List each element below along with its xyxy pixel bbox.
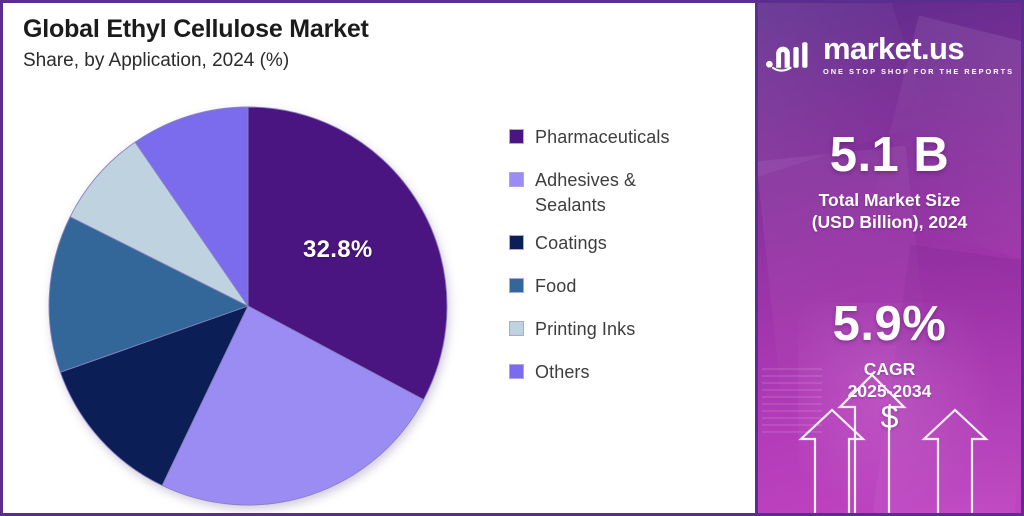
- stat-caption: Total Market Size (USD Billion), 2024: [758, 190, 1021, 233]
- legend-swatch-icon: [509, 129, 524, 144]
- pie-slice-group: [49, 107, 447, 505]
- legend-item-adhesives-sealants[interactable]: Adhesives & Sealants: [509, 168, 739, 218]
- brand-stats-panel: market.us ONE STOP SHOP FOR THE REPORTS …: [758, 3, 1021, 513]
- legend-item-label: Food: [535, 274, 576, 299]
- legend-swatch-icon: [509, 364, 524, 379]
- market-us-logo-icon: [765, 35, 813, 75]
- title-block: Global Ethyl Cellulose Market Share, by …: [23, 15, 583, 72]
- legend-item-label: Printing Inks: [535, 317, 635, 342]
- page-title: Global Ethyl Cellulose Market: [23, 15, 583, 44]
- legend-item-food[interactable]: Food: [509, 274, 739, 299]
- legend-item-printing-inks[interactable]: Printing Inks: [509, 317, 739, 342]
- legend-swatch-icon: [509, 172, 524, 187]
- legend-item-label: Coatings: [535, 231, 607, 256]
- legend-item-others[interactable]: Others: [509, 360, 739, 385]
- pie-slice-label-pharmaceuticals: 32.8%: [303, 236, 373, 264]
- chart-panel: Global Ethyl Cellulose Market Share, by …: [3, 3, 758, 513]
- brand-logo[interactable]: market.us ONE STOP SHOP FOR THE REPORTS: [758, 33, 1021, 76]
- legend-item-label: Adhesives & Sealants: [535, 168, 660, 218]
- legend-item-label: Pharmaceuticals: [535, 125, 670, 150]
- legend-swatch-icon: [509, 278, 524, 293]
- stat-value: 5.9%: [758, 300, 1021, 349]
- legend-item-pharmaceuticals[interactable]: Pharmaceuticals: [509, 125, 739, 150]
- legend-swatch-icon: [509, 321, 524, 336]
- growth-arrows-icon: [758, 363, 1021, 513]
- logo-tagline: ONE STOP SHOP FOR THE REPORTS: [823, 67, 1014, 76]
- pie-slices: [47, 105, 449, 507]
- legend-item-label: Others: [535, 360, 590, 385]
- stat-value: 5.1 B: [758, 131, 1021, 180]
- page-subtitle: Share, by Application, 2024 (%): [23, 50, 583, 72]
- stat-caption-line2: (USD Billion), 2024: [758, 212, 1021, 234]
- logo-text-block: market.us ONE STOP SHOP FOR THE REPORTS: [823, 33, 1014, 76]
- infographic-root: Global Ethyl Cellulose Market Share, by …: [0, 0, 1024, 516]
- pie-chart: 32.8%: [47, 105, 449, 507]
- legend: Pharmaceuticals Adhesives & Sealants Coa…: [509, 125, 739, 385]
- logo-wordmark: market.us: [823, 33, 964, 64]
- stat-caption-line1: Total Market Size: [758, 190, 1021, 212]
- stat-total-market-size: 5.1 B Total Market Size (USD Billion), 2…: [758, 131, 1021, 233]
- legend-item-coatings[interactable]: Coatings: [509, 231, 739, 256]
- legend-swatch-icon: [509, 235, 524, 250]
